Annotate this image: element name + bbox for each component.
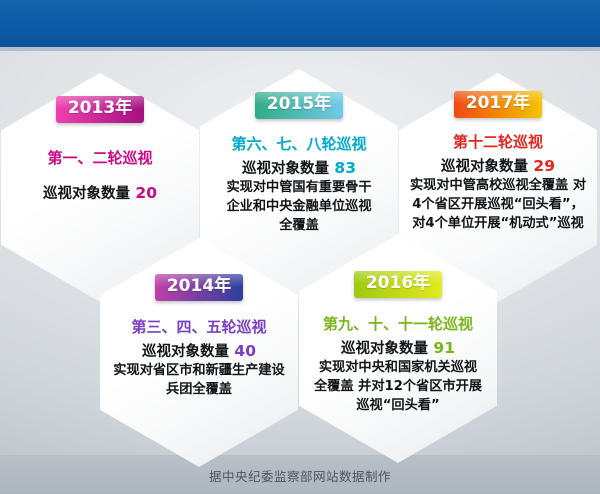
- card-2015-detail-line: 实现对中管国有重要骨干: [226, 178, 371, 197]
- card-2017-year-badge: 2017年: [399, 91, 597, 118]
- card-2014-count-row: 巡视对象数量 40: [142, 340, 256, 361]
- card-2014-year-badge: 2014年: [100, 274, 298, 301]
- card-2017-round-title: 第十二轮巡视: [453, 131, 543, 152]
- card-2013-round-title: 第一、二轮巡视: [47, 147, 152, 168]
- card-2015-count-value: 83: [329, 159, 356, 177]
- header-banner: [0, 0, 600, 47]
- card-2017-body: 第十二轮巡视巡视对象数量 29实现对中管高校巡视全覆盖 对4个省区开展巡视“回头…: [399, 131, 597, 233]
- card-2017-count-value: 29: [528, 157, 555, 175]
- card-2013-year-badge: 2013年: [1, 96, 199, 123]
- card-2015-year-label: 2015年: [255, 92, 343, 119]
- infographic-root: 中央巡视全覆盖历程 2013年第一、二轮巡视巡视对象数量 202014年第三、四…: [0, 0, 600, 494]
- card-2013-count-value: 20: [130, 184, 157, 202]
- card-2017-detail-line: 实现对中管高校巡视全覆盖 对: [410, 176, 586, 195]
- card-2015-detail-line: 企业和中央金融单位巡视: [226, 197, 371, 216]
- card-2014-detail-lines: 实现对省区市和新疆生产建设兵团全覆盖: [113, 361, 284, 399]
- card-2016-detail-line: 全覆盖 并对12个省区市开展: [314, 377, 482, 396]
- card-2014-count-label: 巡视对象数量: [142, 344, 229, 360]
- card-2015-round-title: 第六、七、八轮巡视: [231, 133, 366, 154]
- card-2017-detail-line: 4个省区开展巡视“回头看”，: [410, 195, 586, 214]
- card-2016-detail-line: 实现对中央和国家机关巡视: [314, 358, 482, 377]
- card-2013-count-label: 巡视对象数量: [43, 186, 130, 202]
- card-2017-count-label: 巡视对象数量: [441, 159, 528, 175]
- card-2017-detail-lines: 实现对中管高校巡视全覆盖 对4个省区开展巡视“回头看”，对4个单位开展“机动式”…: [410, 176, 586, 233]
- card-2014-detail-line: 兵团全覆盖: [113, 380, 284, 399]
- card-2014-year-label: 2014年: [155, 274, 243, 301]
- card-2015-count-row: 巡视对象数量 83: [242, 157, 356, 178]
- card-2016-year-badge: 2016年: [299, 271, 497, 298]
- card-2013-body: 第一、二轮巡视巡视对象数量 20: [1, 147, 199, 203]
- card-2016-body: 第九、十、十一轮巡视巡视对象数量 91实现对中央和国家机关巡视全覆盖 并对12个…: [299, 313, 497, 415]
- card-2015-count-label: 巡视对象数量: [242, 161, 329, 177]
- card-2014-body: 第三、四、五轮巡视巡视对象数量 40实现对省区市和新疆生产建设兵团全覆盖: [100, 316, 298, 399]
- card-2016-count-label: 巡视对象数量: [341, 341, 428, 357]
- card-2017-year-label: 2017年: [454, 91, 542, 118]
- card-2016-count-row: 巡视对象数量 91: [341, 337, 455, 358]
- source-note: 据中央纪委监察部网站数据制作: [0, 466, 600, 485]
- card-2016-detail-line: 巡视“回头看”: [314, 396, 482, 415]
- card-2014-count-value: 40: [229, 342, 256, 360]
- card-2015-body: 第六、七、八轮巡视巡视对象数量 83实现对中管国有重要骨干企业和中央金融单位巡视…: [200, 133, 398, 235]
- card-2015-detail-lines: 实现对中管国有重要骨干企业和中央金融单位巡视全覆盖: [226, 178, 371, 235]
- card-2014-round-title: 第三、四、五轮巡视: [131, 316, 266, 337]
- card-2013-count-row: 巡视对象数量 20: [43, 182, 157, 203]
- card-2017-count-row: 巡视对象数量 29: [441, 155, 555, 176]
- card-2013-year-label: 2013年: [56, 96, 144, 123]
- card-2015-year-badge: 2015年: [200, 92, 398, 119]
- card-2016-year-label: 2016年: [354, 271, 442, 298]
- header-underline: [0, 47, 600, 51]
- card-2015-detail-line: 全覆盖: [226, 216, 371, 235]
- card-2017-detail-line: 对4个单位开展“机动式”巡视: [410, 214, 586, 233]
- card-2016-count-value: 91: [428, 339, 455, 357]
- card-2016-detail-lines: 实现对中央和国家机关巡视全覆盖 并对12个省区市开展巡视“回头看”: [314, 358, 482, 415]
- card-2016-round-title: 第九、十、十一轮巡视: [323, 313, 473, 334]
- card-2014-detail-line: 实现对省区市和新疆生产建设: [113, 361, 284, 380]
